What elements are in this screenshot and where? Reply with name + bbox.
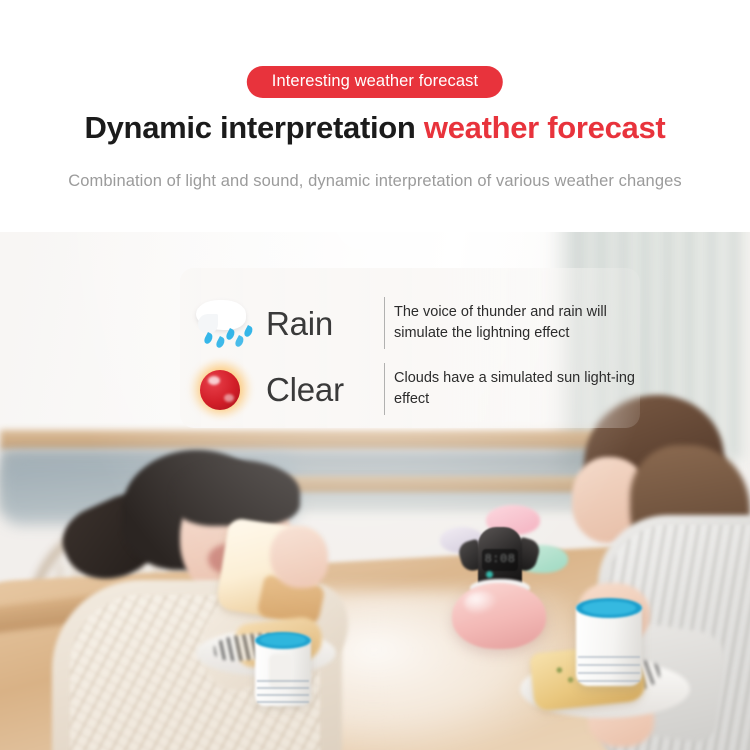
feature-description-clear: Clouds have a simulated sun light-ing ef… xyxy=(394,368,640,409)
child-hand xyxy=(270,526,328,588)
sun-highlight-secondary xyxy=(224,394,234,402)
raindrops xyxy=(204,324,258,350)
page-subtitle: Combination of light and sound, dynamic … xyxy=(0,172,750,191)
weather-modes-card: Rain The voice of thunder and rain will … xyxy=(180,268,640,428)
page-title: Dynamic interpretation weather forecast xyxy=(0,110,750,146)
header-section: Interesting weather forecast Dynamic int… xyxy=(0,0,750,232)
feature-term-rain: Rain xyxy=(266,307,384,340)
clock-indicator-led xyxy=(486,571,493,578)
raindrop xyxy=(243,325,254,338)
child-bangs xyxy=(172,460,300,526)
adult-mug-interior xyxy=(582,601,636,615)
adult-mug xyxy=(576,594,646,686)
page-title-accent: weather forecast xyxy=(424,110,666,145)
cactus-cloud-clock-product: 8:08 xyxy=(430,505,570,655)
child-mug-stripes xyxy=(257,680,309,704)
rain-cloud-icon xyxy=(180,292,266,354)
raindrop xyxy=(234,335,245,348)
planter-highlight xyxy=(464,591,498,615)
row-divider xyxy=(384,297,385,349)
adult-mug-stripes xyxy=(578,656,640,682)
child-mug-interior xyxy=(260,634,306,646)
raindrop xyxy=(225,328,236,341)
sun-glow-icon xyxy=(180,358,266,420)
product-marketing-banner: 8:08 Interesting weather forecast Dynami… xyxy=(0,0,750,750)
feature-row-clear: Clear Clouds have a simulated sun light-… xyxy=(180,358,640,420)
row-divider xyxy=(384,363,385,415)
child-mug xyxy=(255,628,313,706)
feature-row-rain: Rain The voice of thunder and rain will … xyxy=(180,292,640,354)
tagline-badge: Interesting weather forecast xyxy=(247,66,503,98)
sun-highlight-primary xyxy=(208,376,220,385)
raindrop xyxy=(215,336,226,349)
page-title-primary: Dynamic interpretation xyxy=(85,110,424,145)
sun-sphere xyxy=(200,370,240,410)
feature-description-rain: The voice of thunder and rain will simul… xyxy=(394,302,640,343)
clock-display-time: 8:08 xyxy=(484,551,516,567)
raindrop xyxy=(203,332,214,345)
planter-pot xyxy=(452,583,546,649)
feature-term-clear: Clear xyxy=(266,373,384,406)
